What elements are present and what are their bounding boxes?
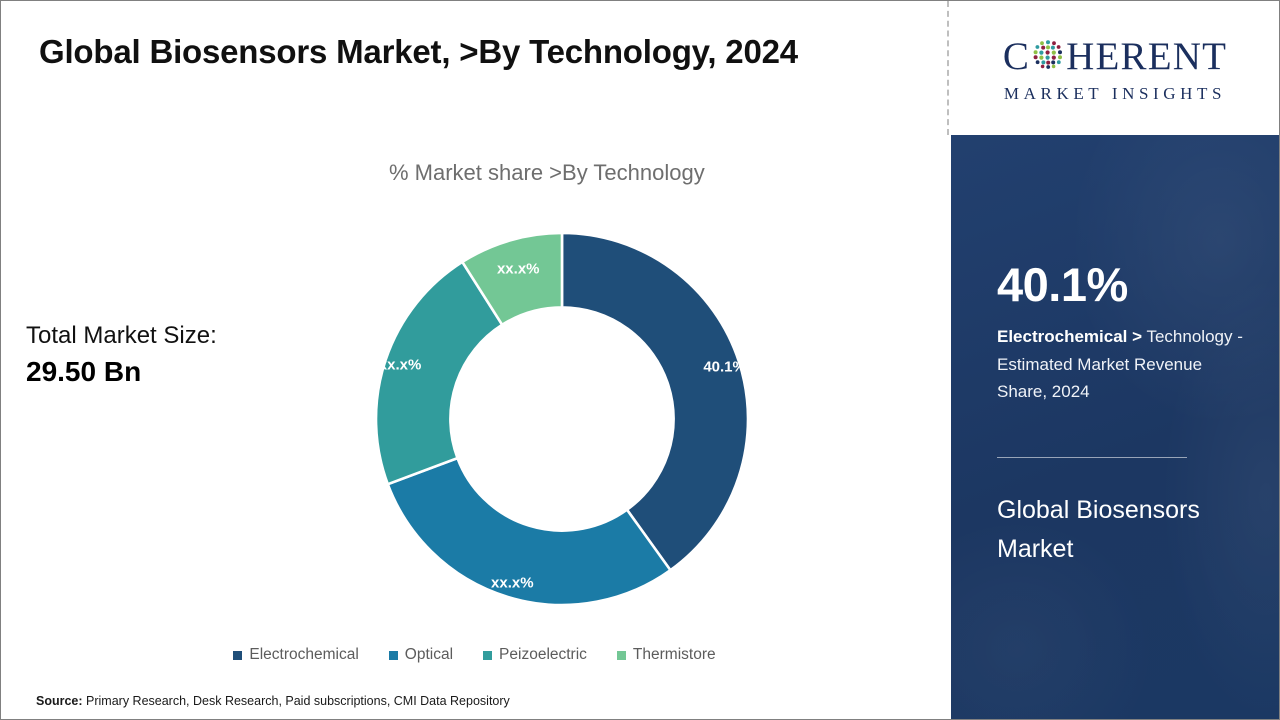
vertical-dashed-divider — [947, 1, 949, 135]
infographic-page: Global Biosensors Market, >By Technology… — [0, 0, 1280, 720]
sidebar-stat-panel: 40.1% Electrochemical > Technology - Est… — [951, 135, 1279, 719]
legend-swatch-icon — [389, 651, 398, 660]
donut-slices — [376, 233, 748, 605]
stat-description-bold: Electrochemical > — [997, 327, 1142, 346]
total-market-size-label: Total Market Size: — [26, 323, 326, 349]
legend-swatch-icon — [233, 651, 242, 660]
legend-label: Peizoelectric — [499, 646, 587, 664]
main-panel: Global Biosensors Market, >By Technology… — [1, 1, 948, 719]
donut-label-thermistore: xx.x% — [497, 260, 540, 277]
legend-item-peizoelectric[interactable]: Peizoelectric — [483, 646, 587, 664]
donut-chart-svg: 40.1%xx.x%xx.x%xx.x% — [376, 229, 748, 609]
logo-text-herent: HERENT — [1066, 37, 1227, 76]
logo-wordmark: C — [1003, 32, 1227, 80]
legend-item-optical[interactable]: Optical — [389, 646, 453, 664]
source-line: Source: Primary Research, Desk Research,… — [36, 694, 510, 708]
stat-divider-rule — [997, 457, 1187, 458]
page-title: Global Biosensors Market, >By Technology… — [39, 33, 919, 71]
stat-description: Electrochemical > Technology - Estimated… — [997, 323, 1245, 406]
total-market-size-block: Total Market Size: 29.50 Bn — [26, 323, 326, 389]
legend-item-electrochemical[interactable]: Electrochemical — [233, 646, 358, 664]
legend-label: Optical — [405, 646, 453, 664]
donut-chart: 40.1%xx.x%xx.x%xx.x% — [376, 229, 748, 609]
donut-label-electrochemical: 40.1% — [703, 359, 746, 376]
legend-item-thermistore[interactable]: Thermistore — [617, 646, 716, 664]
sidebar-market-heading: Global Biosensors Market — [997, 491, 1237, 569]
legend-label: Electrochemical — [249, 646, 358, 664]
logo-letter-c: C — [1003, 37, 1030, 76]
donut-label-peizoelectric: xx.x% — [379, 357, 422, 374]
donut-slice-electrochemical — [562, 233, 748, 570]
globe-dots-icon — [1030, 36, 1066, 77]
source-label: Source: — [36, 694, 83, 708]
logo[interactable]: C — [951, 1, 1279, 135]
logo-subtitle: MARKET INSIGHTS — [1004, 84, 1226, 104]
total-market-size-value: 29.50 Bn — [26, 354, 326, 389]
legend-swatch-icon — [483, 651, 492, 660]
source-text: Primary Research, Desk Research, Paid su… — [83, 694, 510, 708]
stat-percentage: 40.1% — [997, 261, 1128, 308]
chart-legend: ElectrochemicalOpticalPeizoelectricTherm… — [1, 646, 948, 664]
legend-label: Thermistore — [633, 646, 716, 664]
chart-subtitle: % Market share >By Technology — [389, 160, 809, 186]
sidebar: C — [951, 1, 1279, 719]
donut-label-optical: xx.x% — [491, 574, 534, 591]
legend-swatch-icon — [617, 651, 626, 660]
